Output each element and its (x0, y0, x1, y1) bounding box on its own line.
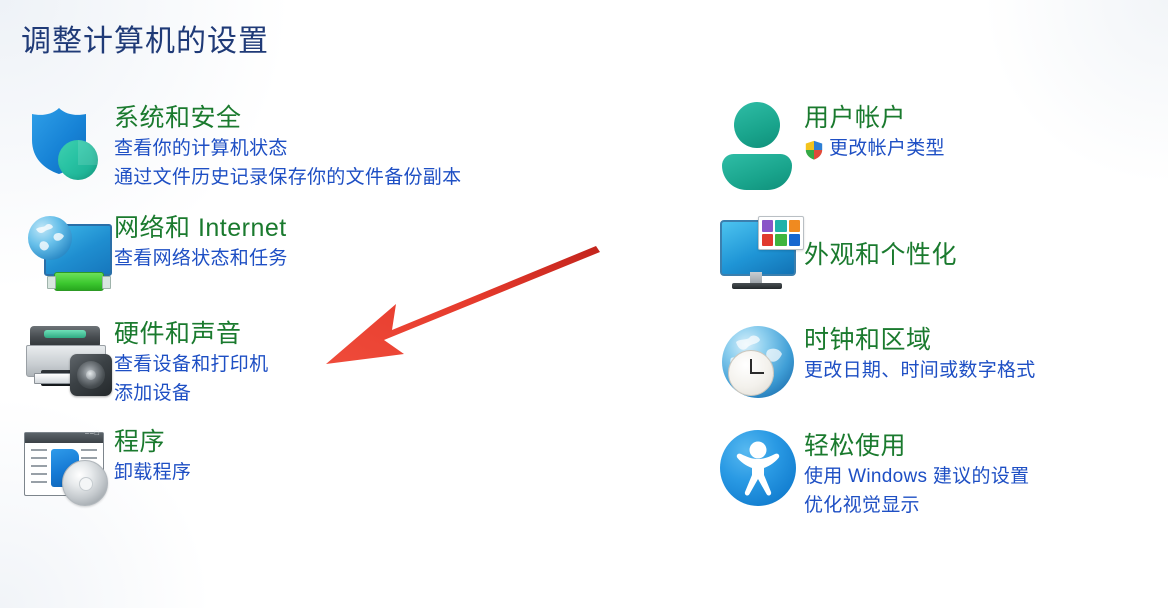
category-link[interactable]: 通过文件历史记录保存你的文件备份副本 (114, 163, 461, 192)
category-user-accounts[interactable]: 用户帐户 (712, 100, 1162, 188)
category-ease-of-access[interactable]: 轻松使用 使用 Windows 建议的设置 优化视觉显示 (712, 428, 1162, 520)
category-link[interactable]: 优化视觉显示 (804, 491, 1029, 520)
category-text: 硬件和声音 查看设备和打印机 添加设备 (114, 318, 268, 408)
category-hardware-and-sound[interactable]: 硬件和声音 查看设备和打印机 添加设备 (22, 318, 642, 408)
category-link[interactable]: 查看网络状态和任务 (114, 244, 288, 273)
page-title: 调整计算机的设置 (21, 16, 269, 60)
category-appearance-and-personalization[interactable]: 外观和个性化 (712, 210, 1162, 298)
category-title[interactable]: 时钟和区域 (804, 324, 1036, 356)
uac-shield-icon (804, 139, 824, 161)
right-column: 用户帐户 (712, 100, 1162, 520)
printer-speaker-icon (22, 318, 114, 406)
category-programs[interactable]: 程序 卸载程序 (22, 424, 642, 512)
category-text: 外观和个性化 (804, 237, 957, 271)
category-title[interactable]: 轻松使用 (804, 430, 1029, 462)
category-link[interactable]: 更改日期、时间或数字格式 (804, 356, 1036, 385)
category-text: 网络和 Internet 查看网络状态和任务 (114, 210, 288, 273)
category-text: 系统和安全 查看你的计算机状态 通过文件历史记录保存你的文件备份副本 (114, 100, 461, 192)
category-title[interactable]: 系统和安全 (114, 102, 461, 134)
category-link[interactable]: 添加设备 (114, 379, 268, 408)
category-title[interactable]: 用户帐户 (804, 102, 945, 134)
category-network-and-internet[interactable]: 网络和 Internet 查看网络状态和任务 (22, 210, 642, 298)
category-link[interactable]: 查看设备和打印机 (114, 350, 268, 379)
control-panel-page: 调整计算机的设置 (0, 0, 1168, 608)
programs-window-cd-icon (22, 424, 114, 512)
clock-globe-icon (712, 322, 804, 410)
monitor-palette-icon (712, 210, 804, 298)
color-palette-swatches (758, 216, 804, 250)
category-text: 用户帐户 (804, 100, 945, 163)
category-link[interactable]: 使用 Windows 建议的设置 (804, 462, 1029, 491)
category-text: 轻松使用 使用 Windows 建议的设置 优化视觉显示 (804, 428, 1029, 520)
network-monitor-icon (22, 210, 114, 298)
category-title[interactable]: 硬件和声音 (114, 318, 268, 350)
user-person-icon (712, 100, 804, 188)
category-title[interactable]: 外观和个性化 (804, 239, 957, 271)
category-text: 时钟和区域 更改日期、时间或数字格式 (804, 322, 1036, 385)
shield-icon (22, 100, 114, 188)
category-system-and-security[interactable]: 系统和安全 查看你的计算机状态 通过文件历史记录保存你的文件备份副本 (22, 100, 642, 192)
category-link[interactable]: 卸载程序 (114, 458, 191, 487)
category-link[interactable]: 更改帐户类型 (804, 134, 945, 163)
category-link-label: 更改帐户类型 (829, 134, 945, 163)
category-title[interactable]: 网络和 Internet (114, 212, 288, 244)
category-text: 程序 卸载程序 (114, 424, 191, 487)
left-column: 系统和安全 查看你的计算机状态 通过文件历史记录保存你的文件备份副本 (22, 100, 642, 512)
category-link[interactable]: 查看你的计算机状态 (114, 134, 461, 163)
category-title[interactable]: 程序 (114, 426, 191, 458)
category-clock-and-region[interactable]: 时钟和区域 更改日期、时间或数字格式 (712, 322, 1162, 410)
accessibility-icon (712, 428, 804, 516)
